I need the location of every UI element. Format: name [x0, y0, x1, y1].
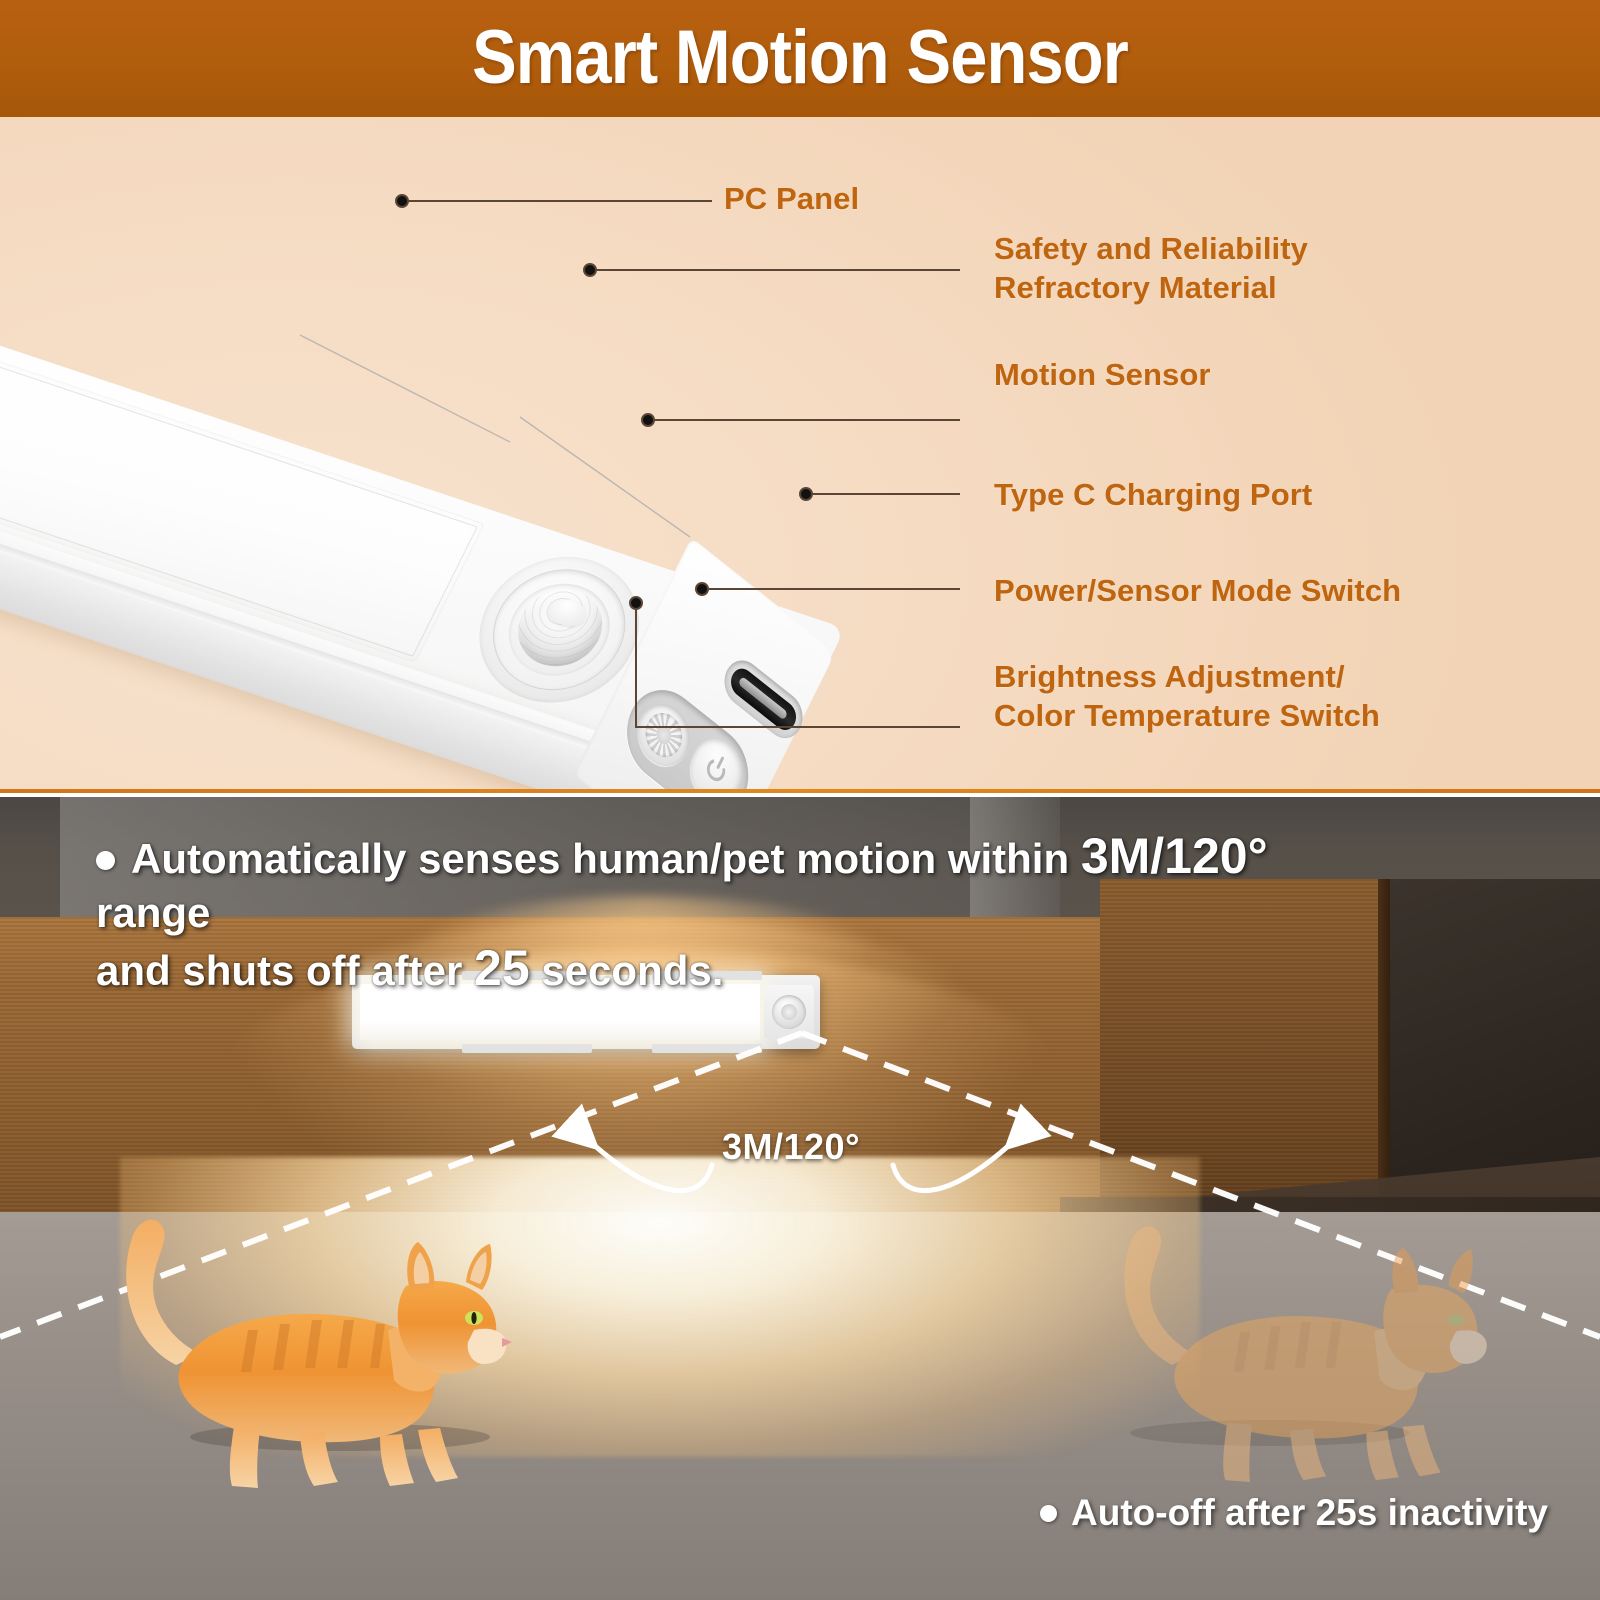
- section-divider: [0, 789, 1600, 793]
- cat-outside-detection-zone: [1088, 1198, 1498, 1484]
- callout-label-refractory-material: Safety and Reliability Refractory Materi…: [994, 229, 1308, 307]
- primary-feature-text: Automatically senses human/pet motion wi…: [96, 826, 1386, 999]
- product-callout-section: PC Panel Safety and Reliability Refracto…: [0, 117, 1600, 793]
- range-label: 3M/120°: [722, 1126, 860, 1168]
- callout-label-brightness-switch: Brightness Adjustment/ Color Temperature…: [994, 657, 1380, 735]
- leader-brightness: [636, 603, 960, 727]
- callout-label-pc-panel: PC Panel: [724, 179, 859, 218]
- callout-label-power-mode-switch: Power/Sensor Mode Switch: [994, 571, 1401, 610]
- header-banner: Smart Motion Sensor: [0, 0, 1600, 117]
- bullet-dot-icon: [96, 851, 115, 870]
- secondary-feature-text: Auto-off after 25s inactivity: [1040, 1492, 1548, 1534]
- bullet-dot-icon: [1040, 1505, 1057, 1522]
- infographic-page: Smart Motion Sensor: [0, 0, 1600, 1600]
- callout-label-type-c-port: Type C Charging Port: [994, 475, 1312, 514]
- angle-arc-left: [585, 1137, 712, 1191]
- callout-label-motion-sensor: Motion Sensor: [994, 355, 1211, 394]
- cat-in-detection-zone: [88, 1190, 518, 1490]
- page-title: Smart Motion Sensor: [96, 14, 1504, 101]
- angle-arc-right: [893, 1137, 1018, 1191]
